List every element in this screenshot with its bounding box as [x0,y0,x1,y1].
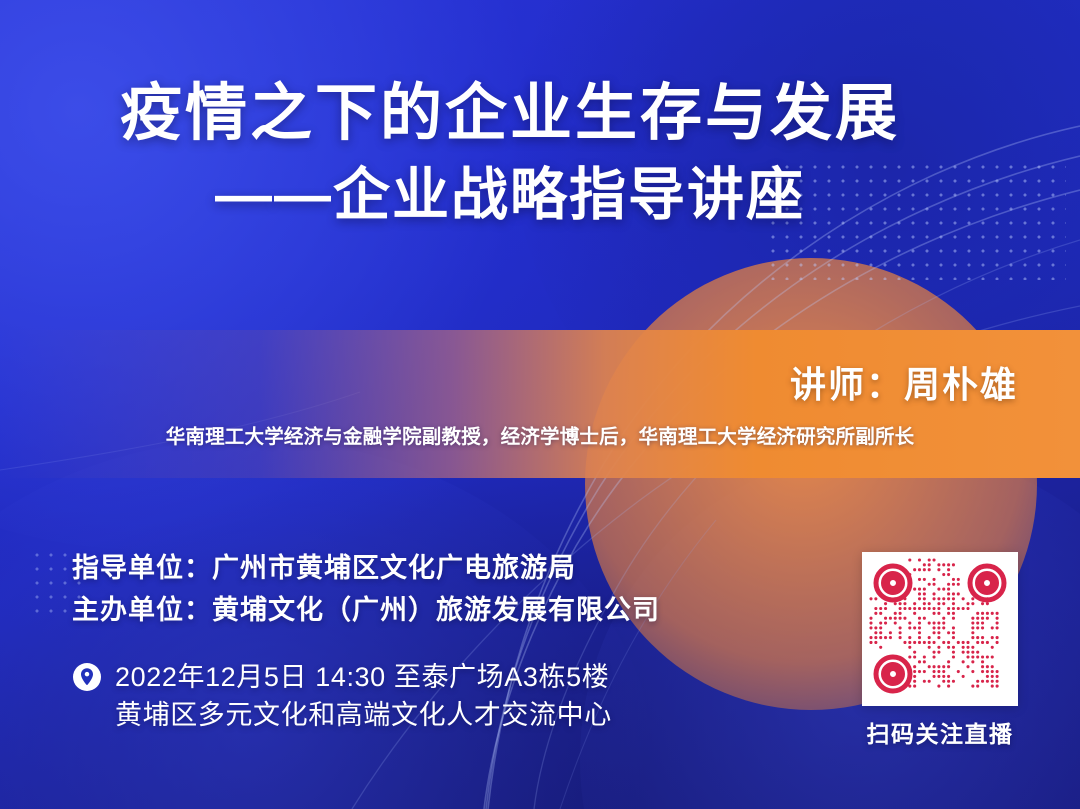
speaker-credentials: 华南理工大学经济与金融学院副教授，经济学博士后，华南理工大学经济研究所副所长 [0,420,1080,449]
organizer-block: 指导单位：广州市黄埔区文化广电旅游局 主办单位：黄埔文化（广州）旅游发展有限公司 [72,548,660,632]
qr-code-icon[interactable] [862,552,1018,706]
location-pin-icon [72,662,102,692]
venue-address: 黄埔区多元文化和高端文化人才交流中心 [115,696,612,734]
qr-caption: 扫码关注直播 [862,715,1018,749]
venue-block: 2022年12月5日 14:30 至泰广场A3栋5楼 黄埔区多元文化和高端文化人… [72,658,612,735]
event-poster: 疫情之下的企业生存与发展 ——企业战略指导讲座 讲师：周朴雄 华南理工大学经济与… [0,0,1080,809]
page-title: 疫情之下的企业生存与发展 ——企业战略指导讲座 [0,74,1020,232]
organizer-host-unit: 主办单位：黄埔文化（广州）旅游发展有限公司 [72,590,660,632]
organizer-guidance-unit: 指导单位：广州市黄埔区文化广电旅游局 [72,548,660,590]
speaker-name: 讲师：周朴雄 [790,356,1018,408]
title-line-main: 疫情之下的企业生存与发展 [0,74,1020,153]
qr-block: 扫码关注直播 [862,552,1018,749]
venue-datetime: 2022年12月5日 14:30 至泰广场A3栋5楼 [115,658,609,696]
title-line-subtitle: ——企业战略指导讲座 [0,159,1020,232]
